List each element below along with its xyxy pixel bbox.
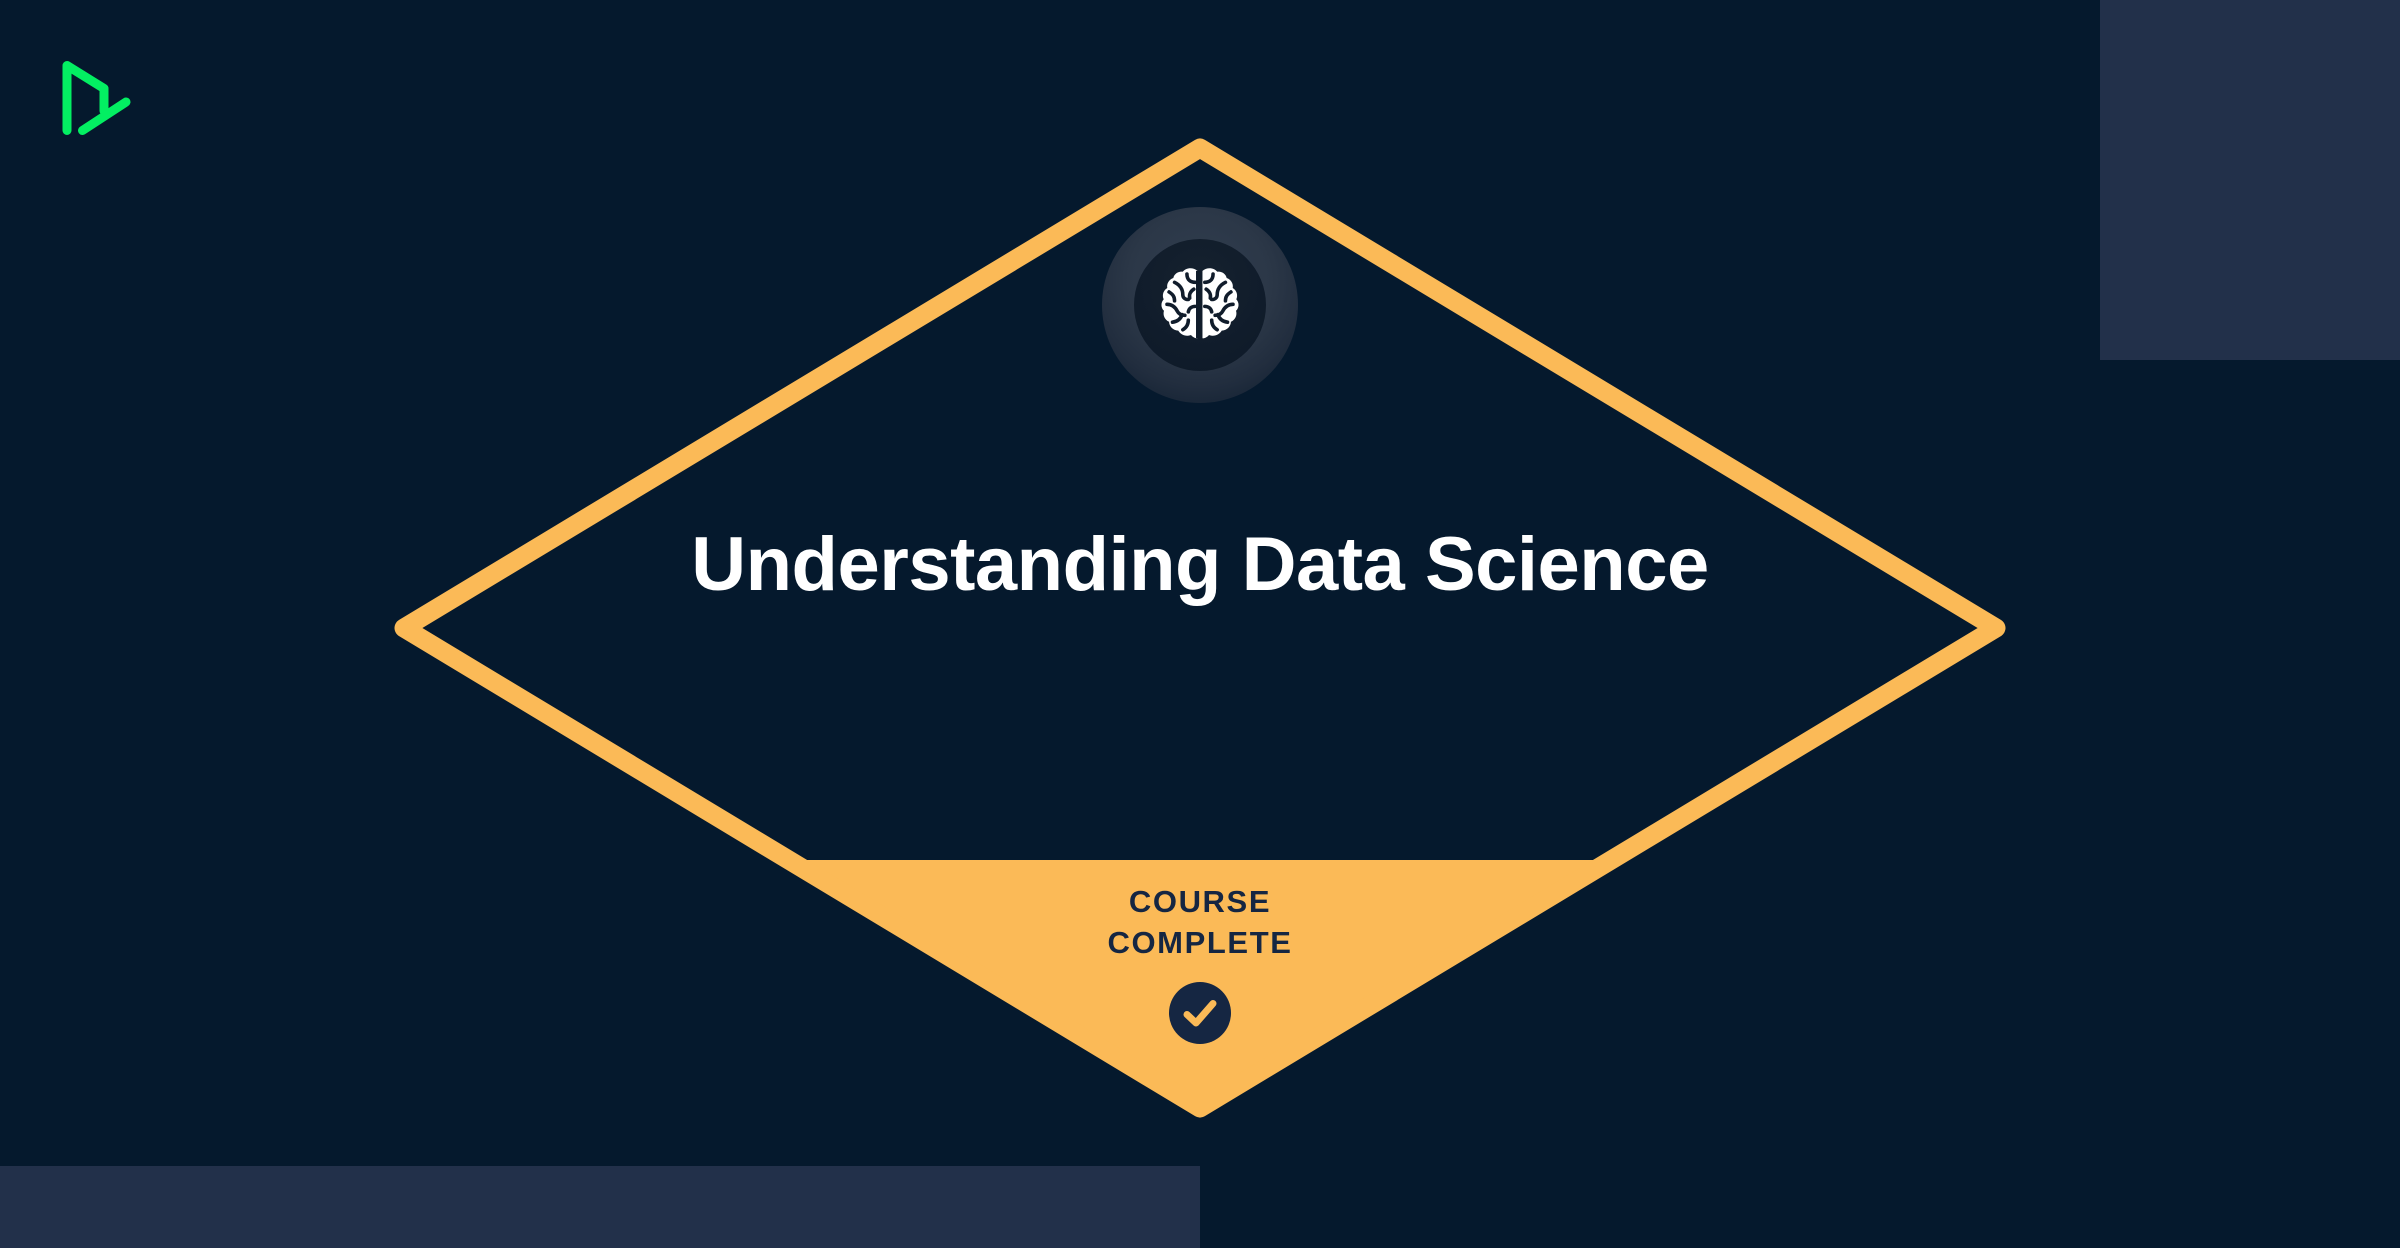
completion-footer: COURSE COMPLETE xyxy=(860,882,1540,1044)
status-label-line-1: COURSE xyxy=(860,882,1540,923)
decorative-block-bottom-left xyxy=(0,1166,1200,1248)
datacamp-logo[interactable] xyxy=(60,58,152,138)
course-title: Understanding Data Science xyxy=(660,520,1740,610)
certificate-canvas: Understanding Data Science COURSE COMPLE… xyxy=(0,0,2400,1248)
check-circle-icon xyxy=(1169,982,1231,1044)
diamond-badge-shape xyxy=(0,0,2400,1248)
status-label-line-2: COMPLETE xyxy=(860,923,1540,964)
datacamp-logo-mark-icon xyxy=(60,58,134,138)
brain-icon xyxy=(1156,261,1244,349)
decorative-block-top-right xyxy=(2100,0,2400,360)
